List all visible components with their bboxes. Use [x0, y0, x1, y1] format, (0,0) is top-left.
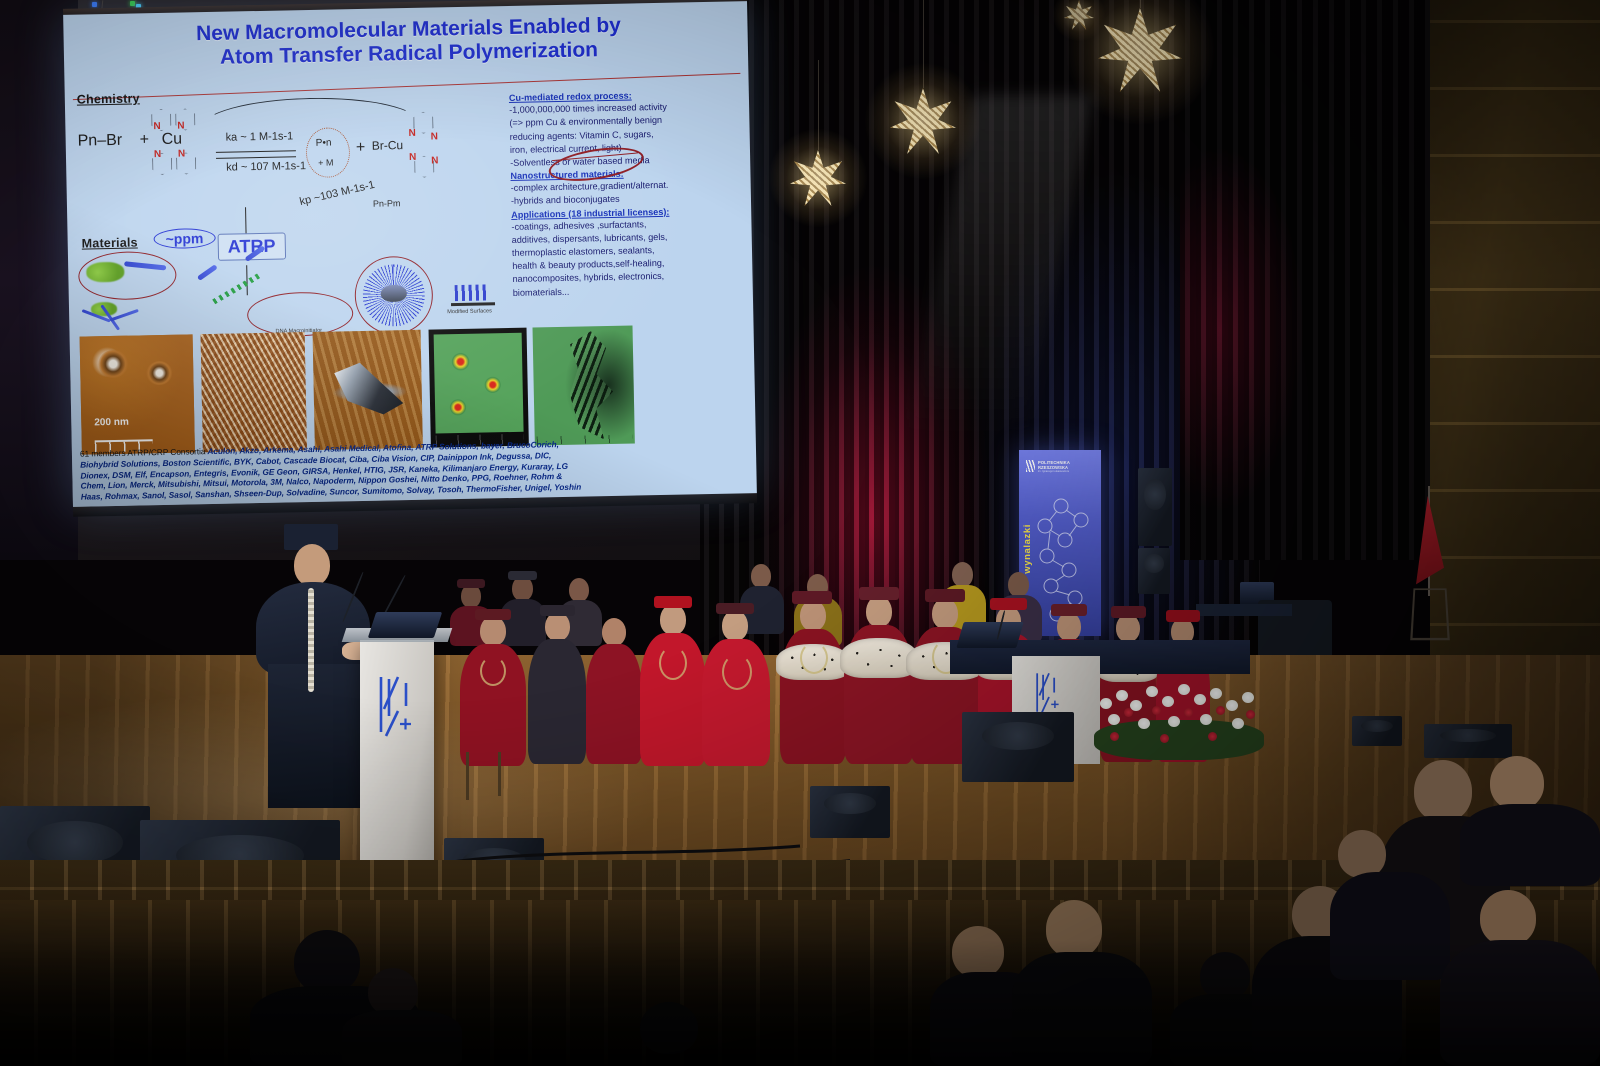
- audience-member-10: [1440, 890, 1600, 1066]
- arrow-reverse: [216, 156, 296, 159]
- star-lantern-3: [790, 150, 846, 206]
- fiber-feature: [333, 361, 405, 417]
- afm-image-2: [201, 332, 307, 452]
- metal-center: Cu: [161, 131, 182, 149]
- academic-front-4: [640, 604, 706, 766]
- star-lantern-1: [1098, 8, 1182, 92]
- section-label-materials: Materials: [82, 235, 138, 250]
- afm-image-3: [313, 330, 423, 450]
- academic-front-3: [586, 618, 642, 764]
- surface-brush-graphic: [455, 284, 489, 301]
- academic-front-1: [460, 616, 526, 766]
- dendritic-feature: [559, 331, 623, 441]
- rate-deactivation: kd ~ 107 M-1s-1: [226, 160, 306, 174]
- block-copolymer-block: [197, 264, 218, 281]
- afm-feature: [98, 350, 129, 379]
- scale-bar-label: 200 nm: [94, 417, 129, 429]
- audience-member-5: [1012, 900, 1152, 1066]
- star-lantern-4: [1064, 0, 1094, 30]
- nitrogen-label: N: [153, 121, 160, 132]
- nitrogen-label: N: [431, 131, 438, 142]
- afm-heatmap: [434, 333, 524, 434]
- table-university-logo: [1032, 670, 1066, 718]
- nitrogen-label: N: [409, 152, 416, 163]
- robe-cord: [308, 588, 314, 692]
- academic-front-7: [844, 596, 914, 764]
- modified-surfaces-label: Modified Surfaces: [447, 308, 492, 315]
- auditorium-scene: New Macromolecular Materials Enabled by …: [0, 0, 1600, 1066]
- lectern-monitor: [956, 622, 1023, 648]
- nitrogen-label: N: [431, 155, 438, 166]
- plus-sign-1: +: [139, 131, 149, 149]
- ceremonial-flag: [1410, 486, 1450, 636]
- projection-screen: New Macromolecular Materials Enabled by …: [63, 1, 757, 507]
- micelle-core: [381, 284, 407, 302]
- stage-curtain-right: [1180, 0, 1430, 560]
- university-name: POLITECHNIKA RZESZOWSKA: [1038, 460, 1101, 470]
- flag-cloth: [1416, 496, 1444, 588]
- ppm-badge: ~ppm: [153, 228, 215, 249]
- university-mark-icon: [1026, 460, 1035, 472]
- nitrogen-label: N: [177, 120, 184, 131]
- audience-member-3: [600, 1002, 750, 1066]
- academic-front-5: [702, 610, 770, 766]
- presentation-slide: New Macromolecular Materials Enabled by …: [63, 1, 757, 507]
- chair-leg: [466, 752, 469, 800]
- audience-member-2: [342, 968, 462, 1066]
- academic-front-6: [780, 600, 846, 764]
- rate-propagation: kp ~103 M-1s-1: [298, 179, 375, 208]
- speaker-head: [294, 544, 330, 586]
- stage-monitor-5: [962, 712, 1074, 782]
- chair-leg: [498, 752, 501, 796]
- flag-stand: [1410, 588, 1450, 640]
- wood-panel-shadow: [1430, 0, 1600, 690]
- arrow-up-to-atrp: [245, 207, 247, 233]
- afm-image-5: [533, 326, 635, 446]
- reactant-left: Pn–Br: [77, 132, 122, 151]
- academic-front-2: [528, 612, 586, 764]
- dna-strand: [209, 266, 260, 306]
- flower-arrangement: [1090, 672, 1270, 764]
- termination-product: Pn-Pm: [373, 198, 401, 209]
- afm-image-4: [429, 328, 529, 448]
- audience-member-9: [1330, 820, 1450, 980]
- camera-rig: [1424, 724, 1512, 758]
- slide-bullet-column: Cu-mediated redox process: -1,000,000,00…: [509, 88, 735, 300]
- nitrogen-label: N: [154, 149, 161, 160]
- podium-confidence-monitor: [368, 612, 442, 638]
- substrate-line: [451, 302, 495, 306]
- speaker: [246, 524, 376, 808]
- stage-monitor-6: [1352, 716, 1402, 746]
- slide-title: New Macromolecular Materials Enabled by …: [103, 12, 714, 71]
- speaker-robe: [268, 664, 362, 808]
- audience-member-11: [1460, 756, 1600, 886]
- university-patron: im. Ignacego Łukasiewicza: [1038, 470, 1101, 473]
- podium-university-logo: [374, 674, 420, 738]
- section-label-chemistry: Chemistry: [77, 91, 140, 106]
- pa-speaker: [1138, 468, 1172, 546]
- university-logo: POLITECHNIKA RZESZOWSKA im. Ignacego Łuk…: [1026, 460, 1101, 473]
- afm-feature: [146, 361, 172, 386]
- nitrogen-label: N: [178, 148, 185, 159]
- star-lantern-2: [890, 88, 956, 154]
- afm-image-1: 200 nm: [80, 334, 195, 454]
- protein-graphic: [86, 262, 124, 283]
- monomer-label: + M: [318, 158, 333, 168]
